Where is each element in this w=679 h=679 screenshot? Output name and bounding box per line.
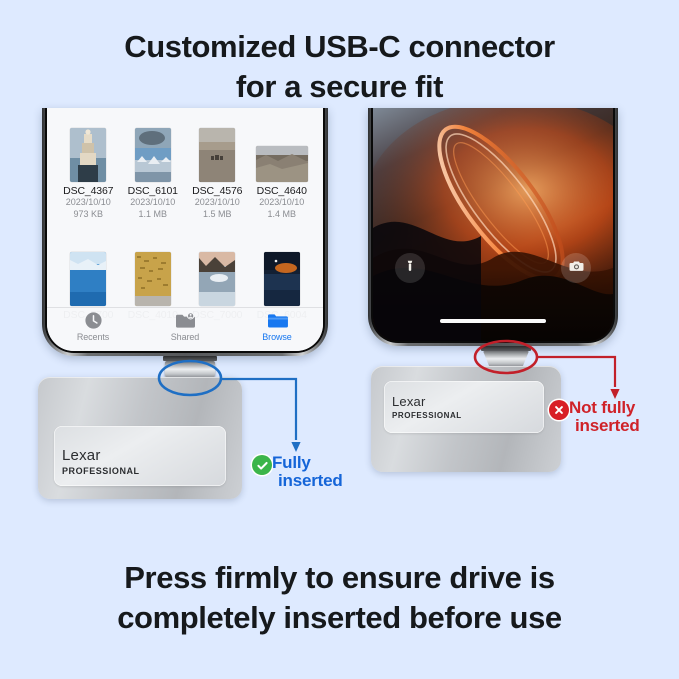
phone-screen-files: DSC_0000 973 KB DSC_0000 1.1 MB DSC_0000… xyxy=(47,108,323,351)
footer-line-1: Press firmly to ensure drive is xyxy=(0,558,679,598)
title-line-1: Customized USB-C connector xyxy=(0,27,679,67)
status-badge-error xyxy=(549,400,569,420)
lexar-wordmark: Lexar xyxy=(62,447,140,464)
lexar-wordmark: Lexar xyxy=(392,394,462,409)
footer-line-2: completely inserted before use xyxy=(0,598,679,638)
files-grid: DSC_4367 2023/10/10 973 KB xyxy=(47,124,323,221)
file-date: 2023/10/10 xyxy=(122,197,185,209)
callout-line-1: Fully xyxy=(272,454,343,472)
instruction-graphic: Customized USB-C connector for a secure … xyxy=(0,0,679,679)
usbc-plug-left xyxy=(165,361,215,378)
status-badge-ok xyxy=(252,455,272,475)
folder-icon xyxy=(267,311,288,330)
page-title: Customized USB-C connector for a secure … xyxy=(0,27,679,108)
tab-label: Recents xyxy=(77,332,109,342)
file-name: DSC_4640 xyxy=(251,185,314,197)
file-name: DSC_4576 xyxy=(186,185,249,197)
file-size: 1.1 MB xyxy=(122,209,185,221)
camera-icon xyxy=(569,259,584,278)
phone-body-right xyxy=(371,108,615,343)
phone-body-left: DSC_0000 973 KB DSC_0000 1.1 MB DSC_0000… xyxy=(45,108,325,353)
file-item[interactable]: DSC_4367 2023/10/10 973 KB xyxy=(57,124,120,221)
file-size: 1.5 MB xyxy=(186,209,249,221)
lexar-sub-wordmark: PROFESSIONAL xyxy=(62,466,140,476)
file-thumbnail xyxy=(57,248,120,306)
callout-line-1: Not fully xyxy=(569,399,640,417)
home-indicator xyxy=(440,319,546,323)
usbc-plug-right xyxy=(483,351,529,367)
clock-icon xyxy=(84,311,103,330)
usbc-plug-shadow-right xyxy=(481,346,531,351)
tab-recents[interactable]: Recents xyxy=(61,311,125,342)
file-thumbnail xyxy=(57,124,120,182)
callout-line-2: inserted xyxy=(278,472,343,490)
phone-screen-lock xyxy=(373,108,613,341)
ssd-brand-left: Lexar PROFESSIONAL xyxy=(62,447,140,476)
lexar-sub-wordmark: PROFESSIONAL xyxy=(392,411,462,420)
flashlight-button[interactable] xyxy=(395,253,425,283)
files-tab-bar: Recents Shared xyxy=(47,307,323,351)
tab-label: Browse xyxy=(262,332,291,342)
file-thumbnail xyxy=(186,248,249,306)
file-date: 2023/10/10 xyxy=(57,197,120,209)
title-line-2: for a secure fit xyxy=(0,67,679,107)
files-row-clipped: DSC_0000 973 KB DSC_0000 1.1 MB DSC_0000… xyxy=(47,108,323,122)
phone-lock-screen xyxy=(368,108,618,346)
leader-arrow-fully-inserted xyxy=(291,442,300,452)
file-size: 1.4 MB xyxy=(251,209,314,221)
cross-icon xyxy=(553,404,565,416)
file-thumbnail xyxy=(122,248,185,306)
file-thumbnail xyxy=(122,124,185,182)
file-thumbnail xyxy=(186,124,249,182)
tab-shared[interactable]: Shared xyxy=(153,311,217,342)
callout-line-2: inserted xyxy=(575,417,640,435)
ssd-brand-right: Lexar PROFESSIONAL xyxy=(392,394,462,420)
footer-instruction: Press firmly to ensure drive is complete… xyxy=(0,558,679,639)
file-date: 2023/10/10 xyxy=(186,197,249,209)
shared-folder-icon xyxy=(175,311,196,330)
phone-files-app: DSC_0000 973 KB DSC_0000 1.1 MB DSC_0000… xyxy=(42,108,328,356)
file-name: DSC_4367 xyxy=(57,185,120,197)
file-thumbnail xyxy=(251,248,314,306)
file-date: 2023/10/10 xyxy=(251,197,314,209)
check-icon xyxy=(256,459,269,472)
file-item[interactable]: DSC_6101 2023/10/10 1.1 MB xyxy=(122,124,185,221)
tab-label: Shared xyxy=(171,332,199,342)
tab-browse[interactable]: Browse xyxy=(245,311,309,342)
file-size: 973 KB xyxy=(57,209,120,221)
camera-button[interactable] xyxy=(561,253,591,283)
file-item[interactable]: DSC_4640 2023/10/10 1.4 MB xyxy=(251,124,314,221)
callout-fully-inserted: Fully inserted xyxy=(272,454,343,490)
callout-not-fully-inserted: Not fully inserted xyxy=(569,399,640,435)
file-item[interactable]: DSC_4576 2023/10/10 1.5 MB xyxy=(186,124,249,221)
file-name: DSC_6101 xyxy=(122,185,185,197)
flashlight-icon xyxy=(403,259,417,278)
file-thumbnail xyxy=(251,124,314,182)
lock-screen-wallpaper xyxy=(373,108,613,341)
